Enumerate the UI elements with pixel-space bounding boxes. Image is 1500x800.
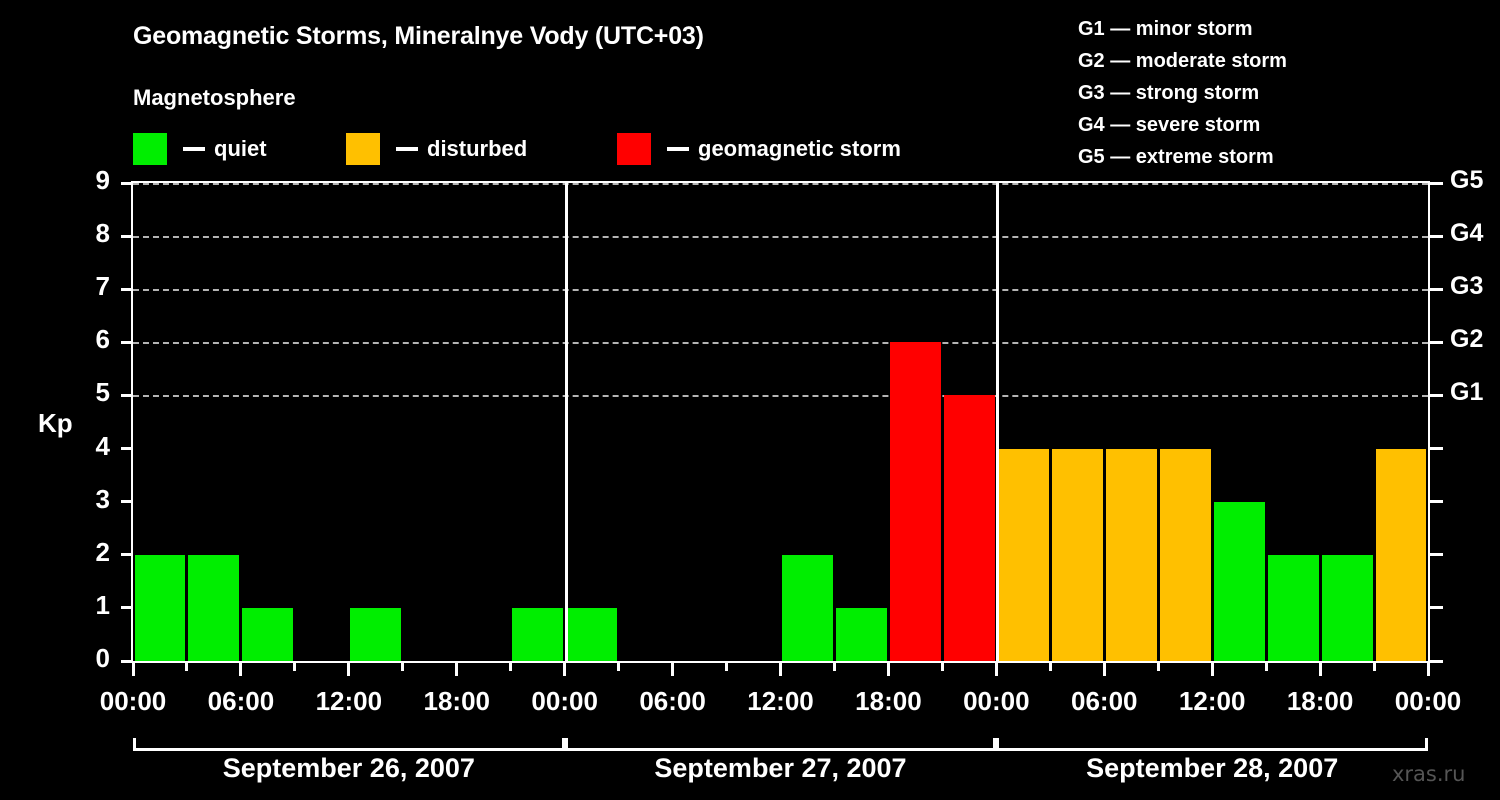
legend-item-geomagnetic-storm: geomagnetic storm [617,133,901,165]
y2-tick [1430,606,1443,609]
y2-tick-label-g3: G3 [1450,272,1483,301]
bar [350,608,401,661]
x-tick [1319,663,1322,676]
x-tick [455,663,458,676]
day-range-bracket [133,738,565,751]
x-tick [132,663,135,676]
y-tick [121,341,133,344]
bar [998,449,1049,661]
x-tick-minor [401,663,404,671]
x-tick-minor [941,663,944,671]
day-range-bracket [565,738,997,751]
bar [512,608,563,661]
storm-scale-row-g4: G4 — severe storm [1078,109,1287,141]
y-tick-label-6: 6 [70,324,110,355]
bar [135,555,186,661]
y2-tick [1430,182,1443,185]
y-tick [121,553,133,556]
x-tick [671,663,674,676]
y-tick-label-2: 2 [70,537,110,568]
y2-tick [1430,447,1443,450]
bar [1214,502,1265,661]
y-tick-label-3: 3 [70,484,110,515]
bracket-line [133,748,565,751]
day-range-bracket [996,738,1428,751]
bar [782,555,833,661]
y-tick-label-5: 5 [70,377,110,408]
bracket-line [996,748,1428,751]
x-tick [995,663,998,676]
x-tick [563,663,566,676]
y-tick [121,235,133,238]
y2-tick [1430,553,1443,556]
y-tick-label-4: 4 [70,431,110,462]
x-tick-minor [725,663,728,671]
bar [836,608,887,661]
y-tick-label-0: 0 [70,643,110,674]
y2-tick-label-g2: G2 [1450,325,1483,354]
day-label: September 26, 2007 [133,753,565,784]
y-tick [121,447,133,450]
bar-series [133,183,1428,661]
x-tick-minor [293,663,296,671]
x-tick [1103,663,1106,676]
y-tick-label-9: 9 [70,165,110,196]
x-tick-minor [1373,663,1376,671]
bracket-cap-right [1425,738,1428,751]
y-axis-title: Kp [38,408,73,439]
day-label: September 28, 2007 [996,753,1428,784]
x-tick [239,663,242,676]
y-tick-label-1: 1 [70,590,110,621]
chart-subtitle: Magnetosphere [133,85,296,111]
storm-scale-legend: G1 — minor stormG2 — moderate stormG3 — … [1078,13,1287,173]
x-tick [887,663,890,676]
y2-tick [1430,500,1443,503]
legend-item-quiet: quiet [133,133,267,165]
legend-dash-icon [183,147,205,151]
x-tick-minor [1049,663,1052,671]
bar [1268,555,1319,661]
bar [944,395,995,661]
bar [242,608,293,661]
y-tick [121,288,133,291]
x-tick-minor [617,663,620,671]
bar [1106,449,1157,661]
bracket-line [565,748,997,751]
x-tick-label: 00:00 [1358,686,1498,717]
storm-scale-row-g3: G3 — strong storm [1078,77,1287,109]
storm-scale-row-g5: G5 — extreme storm [1078,141,1287,173]
y-tick-label-8: 8 [70,218,110,249]
y2-tick-label-g4: G4 [1450,219,1483,248]
y-tick [121,500,133,503]
bar [566,608,617,661]
x-tick-minor [1157,663,1160,671]
bar [890,342,941,661]
x-tick [1211,663,1214,676]
legend-label: disturbed [427,133,527,165]
y-tick-label-7: 7 [70,271,110,302]
x-tick [347,663,350,676]
bar [188,555,239,661]
plot-area [131,181,1430,663]
day-label: September 27, 2007 [565,753,997,784]
page-title: Geomagnetic Storms, Mineralnye Vody (UTC… [133,22,704,51]
quiet-swatch [133,133,167,165]
day-separator [996,183,999,661]
y2-tick [1430,341,1443,344]
bar [1160,449,1211,661]
legend-dash-icon [396,147,418,151]
y2-tick-label-g1: G1 [1450,378,1483,407]
y-tick [121,182,133,185]
x-tick-minor [1265,663,1268,671]
y-tick [121,394,133,397]
legend-label: quiet [214,133,267,165]
chart-root: Geomagnetic Storms, Mineralnye Vody (UTC… [0,0,1500,800]
storm-swatch [617,133,651,165]
x-tick [779,663,782,676]
x-tick [1427,663,1430,676]
y2-tick [1430,288,1443,291]
y-tick [121,606,133,609]
x-tick-minor [509,663,512,671]
y2-tick [1430,235,1443,238]
bar [1322,555,1373,661]
y2-tick [1430,394,1443,397]
disturbed-swatch [346,133,380,165]
x-tick-minor [833,663,836,671]
y2-tick-label-g5: G5 [1450,166,1483,195]
legend-item-disturbed: disturbed [346,133,527,165]
legend-label: geomagnetic storm [698,133,901,165]
storm-scale-row-g2: G2 — moderate storm [1078,45,1287,77]
watermark: xras.ru [1392,762,1466,786]
y2-tick [1430,660,1443,663]
x-tick-minor [185,663,188,671]
legend-dash-icon [667,147,689,151]
day-separator [565,183,568,661]
bar [1376,449,1427,661]
bar [1052,449,1103,661]
storm-scale-row-g1: G1 — minor storm [1078,13,1287,45]
